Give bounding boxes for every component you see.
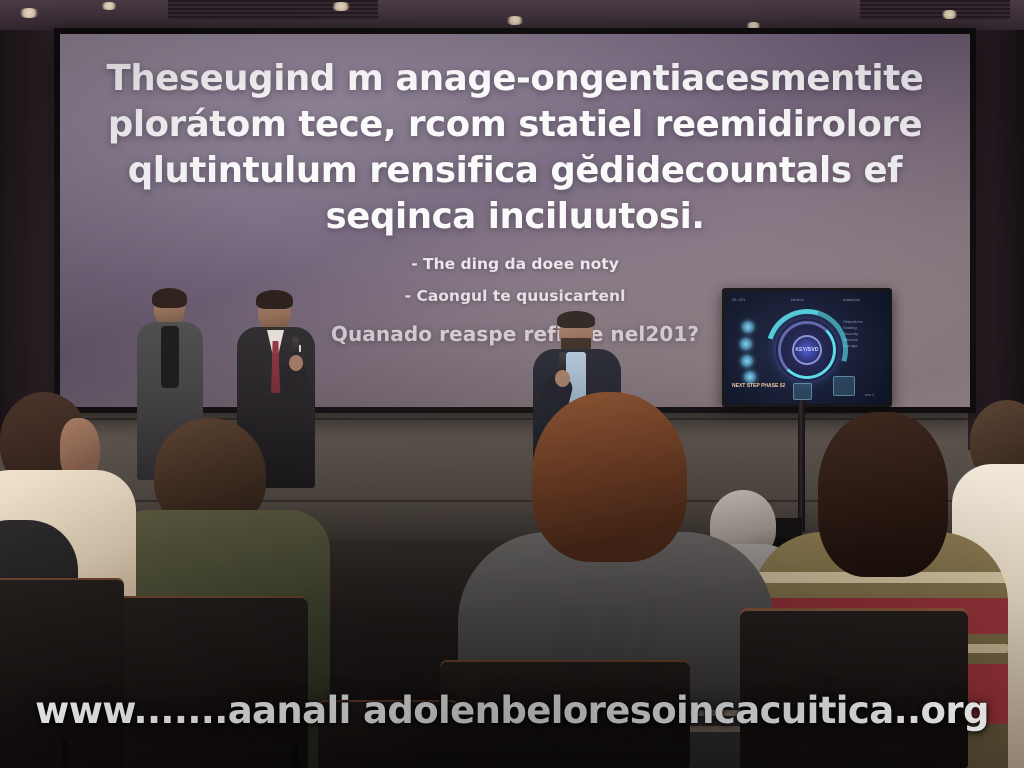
slide-bullet-1: - The ding da doee noty xyxy=(106,257,924,273)
monitor-footer-right: rev 1 xyxy=(865,392,874,398)
monitor-node-icon xyxy=(742,321,754,333)
monitor-core-label: KEY/SVD xyxy=(795,347,818,353)
downlight-icon xyxy=(505,16,525,25)
monitor-badge-icon xyxy=(833,376,855,396)
monitor-node-icon xyxy=(741,355,753,367)
speaker-hand xyxy=(289,355,303,371)
conference-photo-scene: Theseugind m anage-ongentiacesmentite pl… xyxy=(0,0,1024,768)
monitor-screen: SL-001 Device Analytics Objectives Scali… xyxy=(725,291,889,404)
monitor-header-right: Analytics xyxy=(843,297,860,303)
slide-headline: Theseugind m anage-ongentiacesmentite pl… xyxy=(106,56,924,241)
url-watermark: www.......aanali adolenbeloresoincacuiti… xyxy=(35,689,989,732)
speaker-hair xyxy=(557,311,595,328)
monitor-node-icon xyxy=(740,338,752,350)
left-wall xyxy=(0,30,60,450)
chair-leg xyxy=(62,740,68,768)
speaker-hair xyxy=(256,290,293,309)
downlight-icon xyxy=(18,8,40,18)
monitor-header-left: SL-001 xyxy=(732,297,746,303)
monitor-header-center: Device xyxy=(791,297,804,303)
audience-head xyxy=(532,392,687,562)
ceiling-vent-right xyxy=(860,0,1010,20)
monitor-footer-title: NEXT STEP PHASE 02 xyxy=(732,383,785,389)
speaker-hand xyxy=(555,370,570,387)
speaker-hair xyxy=(152,288,187,308)
speaker-shirt xyxy=(161,326,179,388)
downlight-icon xyxy=(330,2,352,11)
downlight-icon xyxy=(100,2,118,10)
monitor-node-icon xyxy=(744,371,756,383)
downlight-icon xyxy=(940,10,959,19)
chair-leg xyxy=(292,742,298,768)
monitor-badge-icon xyxy=(793,383,812,400)
right-wall xyxy=(968,30,1024,450)
audience-head xyxy=(818,412,948,577)
url-watermark-band: www.......aanali adolenbeloresoincacuiti… xyxy=(0,678,1024,742)
secondary-monitor: SL-001 Device Analytics Objectives Scali… xyxy=(722,288,892,407)
